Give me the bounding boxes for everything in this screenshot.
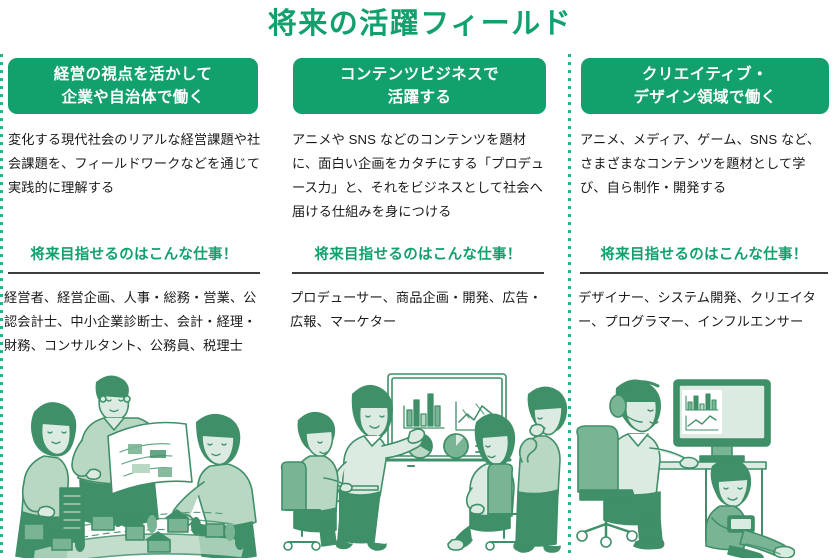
column-body-text: アニメ、メディア、ゲーム、SNS など、さまざまなコンテンツを題材として学び、自… — [580, 128, 832, 200]
column-badge-header: コンテンツビジネスで 活躍する — [293, 58, 546, 114]
column-badge-header: クリエイティブ・ デザイン領域で働く — [581, 58, 829, 114]
future-jobs-heading-wrap: 将来目指せるのはこんな仕事！ — [292, 244, 544, 274]
column-management: 経営の視点を活かして 企業や自治体で働く 変化する現代社会のリアルな経営課題や社… — [0, 52, 280, 560]
heading-underline — [292, 272, 544, 274]
urban-planning-model-team-illustration — [0, 366, 280, 558]
page-title: 将来の活躍フィールド — [0, 4, 840, 44]
heading-underline — [8, 272, 260, 274]
column-body-text: 変化する現代社会のリアルな経営課題や社会課題を、フィールドワークなどを通じて実践… — [8, 128, 264, 200]
future-jobs-heading: 将来目指せるのはこんな仕事！ — [292, 244, 544, 266]
column-content-business: コンテンツビジネスで 活躍する アニメや SNS などのコンテンツを題材に、面白… — [280, 52, 570, 560]
job-list-text: 経営者、経営企画、人事・総務・営業、公認会計士、中小企業診断士、会計・経理・財務… — [4, 286, 266, 358]
job-list-text: プロデューサー、商品企画・開発、広告・広報、マーケター — [290, 286, 548, 334]
heading-underline — [580, 272, 828, 274]
column-creative-design: クリエイティブ・ デザイン領域で働く アニメ、メディア、ゲーム、SNS など、さ… — [570, 52, 840, 560]
future-jobs-heading-wrap: 将来目指せるのはこんな仕事！ — [8, 244, 260, 274]
future-jobs-heading: 将来目指せるのはこんな仕事！ — [8, 244, 260, 266]
creator-at-computer-illustration — [570, 366, 840, 558]
future-jobs-heading-wrap: 将来目指せるのはこんな仕事！ — [580, 244, 828, 274]
future-jobs-heading: 将来目指せるのはこんな仕事！ — [580, 244, 828, 266]
job-list-text: デザイナー、システム開発、クリエイター、プログラマー、インフルエンサー — [578, 286, 832, 334]
columns-container: 経営の視点を活かして 企業や自治体で働く 変化する現代社会のリアルな経営課題や社… — [0, 52, 840, 560]
column-body-text: アニメや SNS などのコンテンツを題材に、面白い企画をカタチにする「プロデュー… — [292, 128, 550, 224]
column-badge-header: 経営の視点を活かして 企業や自治体で働く — [8, 58, 258, 114]
infographic-page: 将来の活躍フィールド 経営の視点を活かして 企業や自治体で働く 変化する現代社会… — [0, 0, 840, 560]
business-presentation-whiteboard-illustration — [280, 366, 570, 558]
